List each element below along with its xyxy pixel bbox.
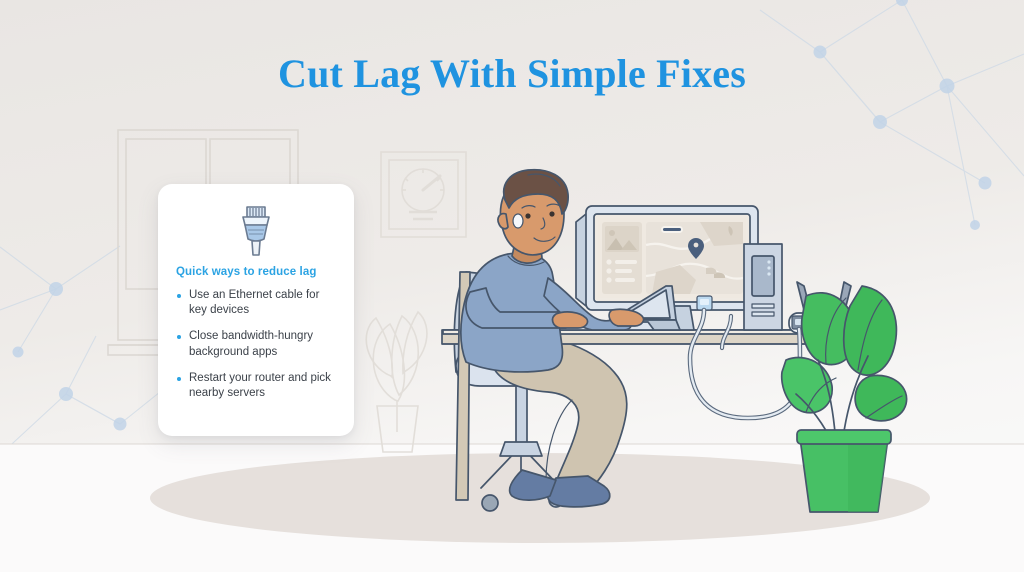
page-title: Cut Lag With Simple Fixes xyxy=(0,50,1024,97)
card-icon-container xyxy=(176,200,336,262)
card-heading: Quick ways to reduce lag xyxy=(176,266,336,278)
list-item: Restart your router and pick nearby serv… xyxy=(176,371,336,401)
pc-tower xyxy=(744,244,782,330)
ethernet-rj45-plug-icon xyxy=(233,203,279,259)
illustration-poster: .ol { stroke:#46566b; stroke-width:1.7; … xyxy=(0,0,1024,572)
plant-leaves xyxy=(782,286,907,446)
list-item: Close bandwidth-hungry background apps xyxy=(176,329,336,359)
tips-card: Quick ways to reduce lag Use an Ethernet… xyxy=(158,184,354,436)
tips-list: Use an Ethernet cable for key devices Cl… xyxy=(176,288,336,401)
list-item: Use an Ethernet cable for key devices xyxy=(176,288,336,318)
